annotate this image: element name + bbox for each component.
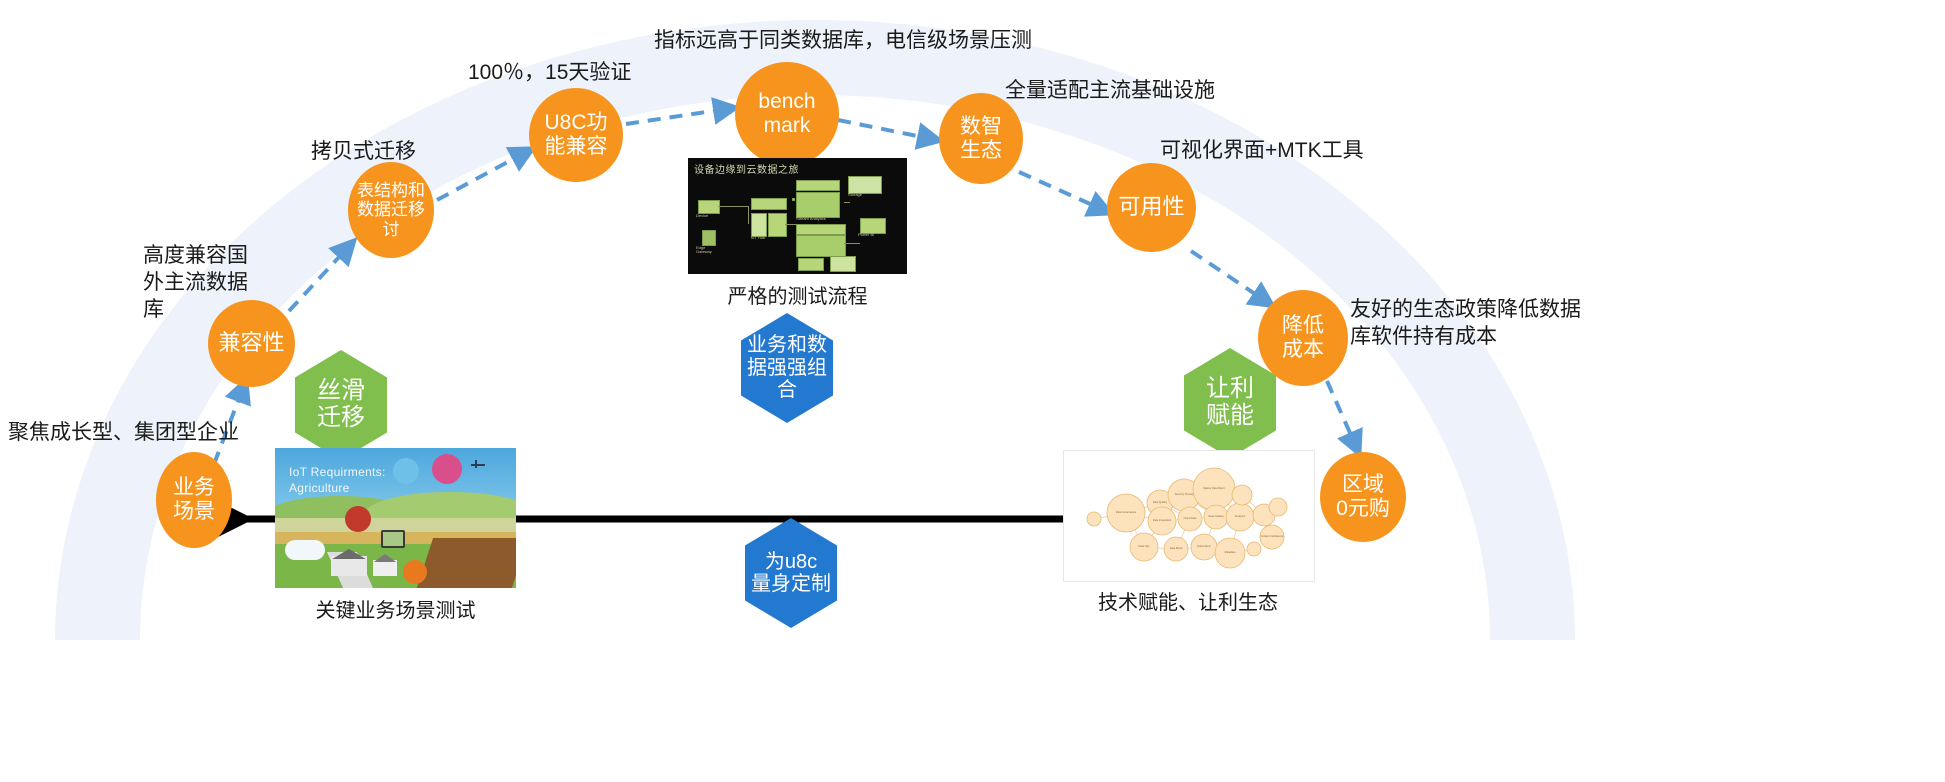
node-u8c-function-compat[interactable]: U8C功 能兼容: [529, 88, 623, 182]
agriculture-inner-title: IoT Requirments: Agriculture: [289, 465, 386, 496]
node-digital-ecosystem[interactable]: 数智 生态: [939, 93, 1023, 184]
svg-text:Metadata: Metadata: [1225, 550, 1236, 554]
svg-text:Data Catalog: Data Catalog: [1208, 514, 1224, 518]
node-label: 数智 生态: [960, 115, 1002, 162]
svg-text:Analytics: Analytics: [1235, 514, 1246, 518]
bubble-blue: [393, 458, 419, 484]
node-label: 兼容性: [218, 331, 284, 356]
caption-key-business-test: 关键业务场景测试: [275, 594, 516, 623]
node-regional-zero-purchase[interactable]: 区域 0元购: [1320, 452, 1406, 542]
arrow-n8-n9: [1327, 381, 1358, 451]
svg-text:Data Fabric: Data Fabric: [1197, 544, 1211, 548]
hexagon-label: 业务和数 据强强组 合: [747, 334, 827, 401]
node-label: 降低 成本: [1282, 314, 1324, 361]
caption-focus-enterprises: 聚焦成长型、集团型企业: [8, 420, 239, 447]
caption-100pct-15day: 100％，15天验证: [468, 60, 631, 87]
caption-copy-migration: 拷贝式迁移: [311, 139, 416, 166]
diagram-canvas: 业务 场景 兼容性 表结构和 数据迁移 讨 U8C功 能兼容 bench mar…: [0, 0, 1945, 782]
svg-text:Content Intelligence: Content Intelligence: [1261, 534, 1284, 538]
svg-text:Cloud Data: Cloud Data: [1184, 516, 1198, 520]
caption-tech-empower-eco: 技术赋能、让利生态: [1063, 586, 1313, 615]
caption-friendly-eco-policy: 友好的生态政策降低数据 库软件持有成本: [1350, 297, 1581, 351]
bubble-orange: [403, 560, 427, 584]
hexagon-label: 让利 赋能: [1206, 376, 1254, 430]
bubble-pink: [432, 454, 462, 484]
svg-text:Data Mesh: Data Mesh: [1170, 546, 1183, 550]
arrow-n4-n5: [626, 108, 733, 124]
arrow-n2-n3: [289, 243, 352, 311]
svg-text:Data Governance: Data Governance: [1116, 510, 1137, 514]
node-label: 区域 0元购: [1336, 473, 1390, 520]
node-reduce-cost[interactable]: 降低 成本: [1258, 290, 1348, 386]
image-ecosystem-network[interactable]: Data Governance Data Quality Security Pr…: [1063, 450, 1315, 582]
hexagon-label: 为u8c 量身定制: [751, 551, 831, 596]
arrow-n3-n4: [437, 150, 530, 200]
caption-highly-compatible-db: 高度兼容国 外主流数据 库: [143, 243, 248, 324]
node-label: 表结构和 数据迁移 讨: [357, 181, 425, 238]
caption-full-adaptation: 全量适配主流基础设施: [1005, 78, 1215, 105]
node-label: 可用性: [1118, 195, 1184, 220]
svg-text:Master Data Mgmt: Master Data Mgmt: [1203, 486, 1225, 490]
svg-text:Data Quality: Data Quality: [1153, 500, 1168, 504]
node-label: bench mark: [758, 90, 815, 137]
image-architecture-diagram[interactable]: 设备边缘到云数据之旅 Device EdgeGateway IoT Hub St…: [688, 158, 907, 274]
image-iot-agriculture[interactable]: IoT Requirments: Agriculture: [275, 448, 516, 588]
node-schema-data-migration[interactable]: 表结构和 数据迁移 讨: [348, 162, 434, 258]
arrow-n5-n6: [838, 120, 937, 140]
bubble-red: [345, 506, 371, 532]
arrow-n6-n7: [1019, 172, 1108, 212]
arrow-n7-n8: [1191, 251, 1270, 304]
caption-metrics-far-higher: 指标远高于同类数据库，电信级场景压测: [654, 28, 1032, 55]
node-benchmark[interactable]: bench mark: [735, 62, 839, 166]
node-label: U8C功 能兼容: [544, 111, 607, 158]
node-label: 业务 场景: [173, 476, 215, 523]
architecture-diagram-inner-title: 设备边缘到云数据之旅: [694, 161, 799, 176]
svg-text:Data Ops: Data Ops: [1139, 544, 1151, 548]
node-business-scenario[interactable]: 业务 场景: [156, 452, 232, 548]
svg-text:Data Integration: Data Integration: [1153, 518, 1172, 522]
hexagon-label: 丝滑 迁移: [317, 378, 365, 432]
caption-visual-ui-mtk: 可视化界面+MTK工具: [1160, 138, 1364, 165]
node-availability[interactable]: 可用性: [1107, 163, 1196, 252]
svg-text:Security Privacy: Security Privacy: [1175, 492, 1194, 496]
caption-strict-test-process: 严格的测试流程: [688, 280, 907, 309]
